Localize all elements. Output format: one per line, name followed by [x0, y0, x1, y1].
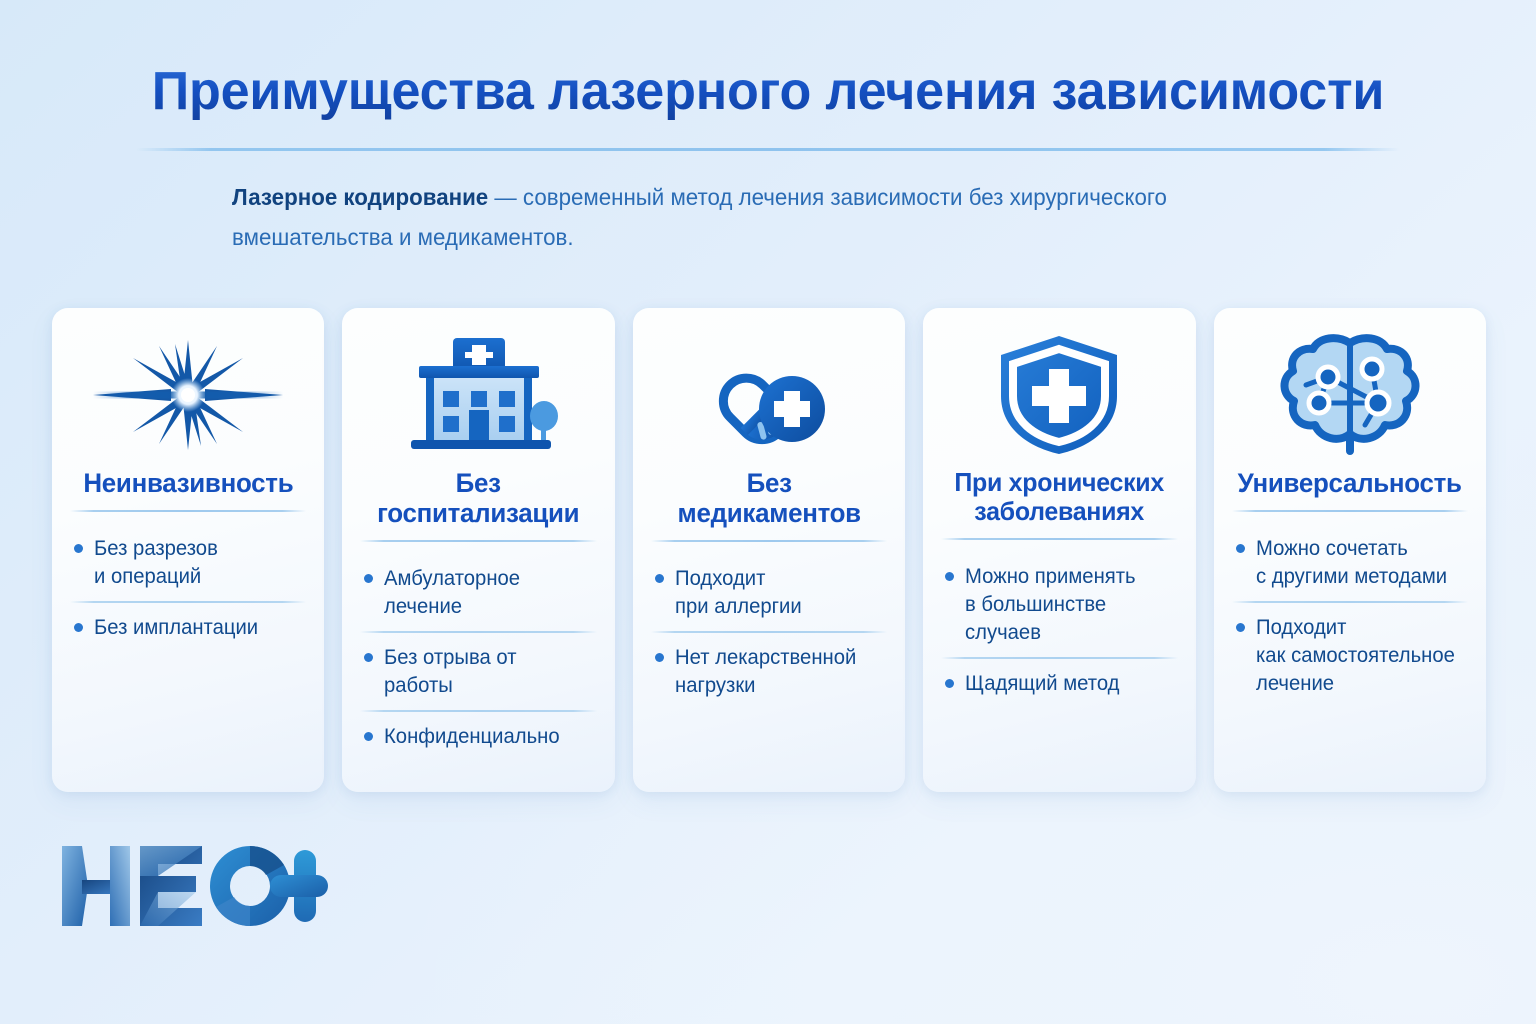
title-separator	[1232, 510, 1468, 512]
subtitle: Лазерное кодирование — современный метод…	[232, 178, 1202, 257]
bullet-dot-icon	[945, 572, 954, 581]
bullet-list: Амбулаторное лечение Без отрыва от работ…	[360, 554, 596, 761]
card-universality[interactable]: Универсальность Можно сочетать с другими…	[1214, 308, 1486, 792]
subtitle-lead: Лазерное кодирование	[232, 184, 488, 210]
bullet-text: Подходит при аллергии	[675, 565, 802, 621]
bullet-text: Конфиденциально	[384, 723, 560, 751]
title-separator	[360, 540, 596, 542]
card-title-line-2: заболеваниях	[975, 496, 1145, 526]
bullet-text: Без имплантации	[94, 614, 258, 642]
bullet-list: Можно сочетать с другими методами Подход…	[1232, 524, 1468, 708]
bullet-list: Подходит при аллергии Нет лекарственной …	[651, 554, 887, 710]
bullet-dot-icon	[74, 544, 83, 553]
bullet-text: Подходит как самостоятельное лечение	[1256, 614, 1455, 698]
bullet-dot-icon	[655, 653, 664, 662]
list-item: Щадящий метод	[941, 659, 1177, 708]
brain-network-icon	[1232, 324, 1468, 466]
card-noninvasive[interactable]: Неинвазивность Без разрезов и операций Б…	[52, 308, 324, 792]
pill-capsule-icon	[651, 324, 887, 466]
list-item: Конфиденциально	[360, 712, 596, 761]
list-item: Подходит при аллергии	[651, 554, 887, 631]
list-item: Амбулаторное лечение	[360, 554, 596, 631]
title-separator	[70, 510, 306, 512]
list-item: Без имплантации	[70, 603, 306, 652]
card-title: Без госпитализации	[365, 468, 592, 528]
bullet-dot-icon	[1236, 623, 1245, 632]
shield-cross-icon	[941, 324, 1177, 466]
bullet-dot-icon	[945, 679, 954, 688]
list-item: Подходит как самостоятельное лечение	[1232, 603, 1468, 708]
card-title: При хроническихзаболеваниях	[955, 468, 1165, 526]
list-item: Можно применять в большинстве случаев	[941, 552, 1177, 657]
bullet-text: Можно сочетать с другими методами	[1256, 535, 1447, 591]
bullet-text: Без разрезов и операций	[94, 535, 218, 591]
infographic-page: Преимущества лазерного лечения зависимос…	[0, 0, 1536, 1024]
list-item: Без отрыва от работы	[360, 633, 596, 710]
bullet-text: Можно применять в большинстве случаев	[965, 563, 1170, 647]
bullet-dot-icon	[1236, 544, 1245, 553]
benefit-cards-row: Неинвазивность Без разрезов и операций Б…	[52, 308, 1486, 792]
neo-plus-logo[interactable]	[58, 838, 328, 934]
laser-starburst-icon	[70, 324, 306, 466]
card-title: Неинвазивность	[83, 468, 293, 498]
card-no-hospitalization[interactable]: Без госпитализации Амбулаторное лечение …	[342, 308, 614, 792]
bullet-text: Амбулаторное лечение	[384, 565, 520, 621]
card-no-medication[interactable]: Без медикаментов Подходит при аллергии Н…	[633, 308, 905, 792]
bullet-dot-icon	[364, 653, 373, 662]
title-separator	[941, 538, 1177, 540]
card-title: Универсальность	[1238, 468, 1462, 498]
bullet-dot-icon	[655, 574, 664, 583]
card-chronic-conditions[interactable]: При хроническихзаболеваниях Можно примен…	[923, 308, 1195, 792]
card-title-line-1: При хронических	[955, 467, 1165, 497]
title-divider	[136, 148, 1400, 151]
title-separator	[651, 540, 887, 542]
bullet-list: Можно применять в большинстве случаев Ща…	[941, 552, 1177, 708]
bullet-dot-icon	[364, 574, 373, 583]
card-title: Без медикаментов	[656, 468, 883, 528]
bullet-text: Без отрыва от работы	[384, 644, 589, 700]
bullet-text: Щадящий метод	[965, 670, 1119, 698]
list-item: Можно сочетать с другими методами	[1232, 524, 1468, 601]
bullet-text: Нет лекарственной нагрузки	[675, 644, 856, 700]
bullet-dot-icon	[74, 623, 83, 632]
page-title: Преимущества лазерного лечения зависимос…	[27, 60, 1509, 122]
list-item: Без разрезов и операций	[70, 524, 306, 601]
bullet-list: Без разрезов и операций Без имплантации	[70, 524, 306, 652]
list-item: Нет лекарственной нагрузки	[651, 633, 887, 710]
hospital-building-icon	[360, 324, 596, 466]
bullet-dot-icon	[364, 732, 373, 741]
